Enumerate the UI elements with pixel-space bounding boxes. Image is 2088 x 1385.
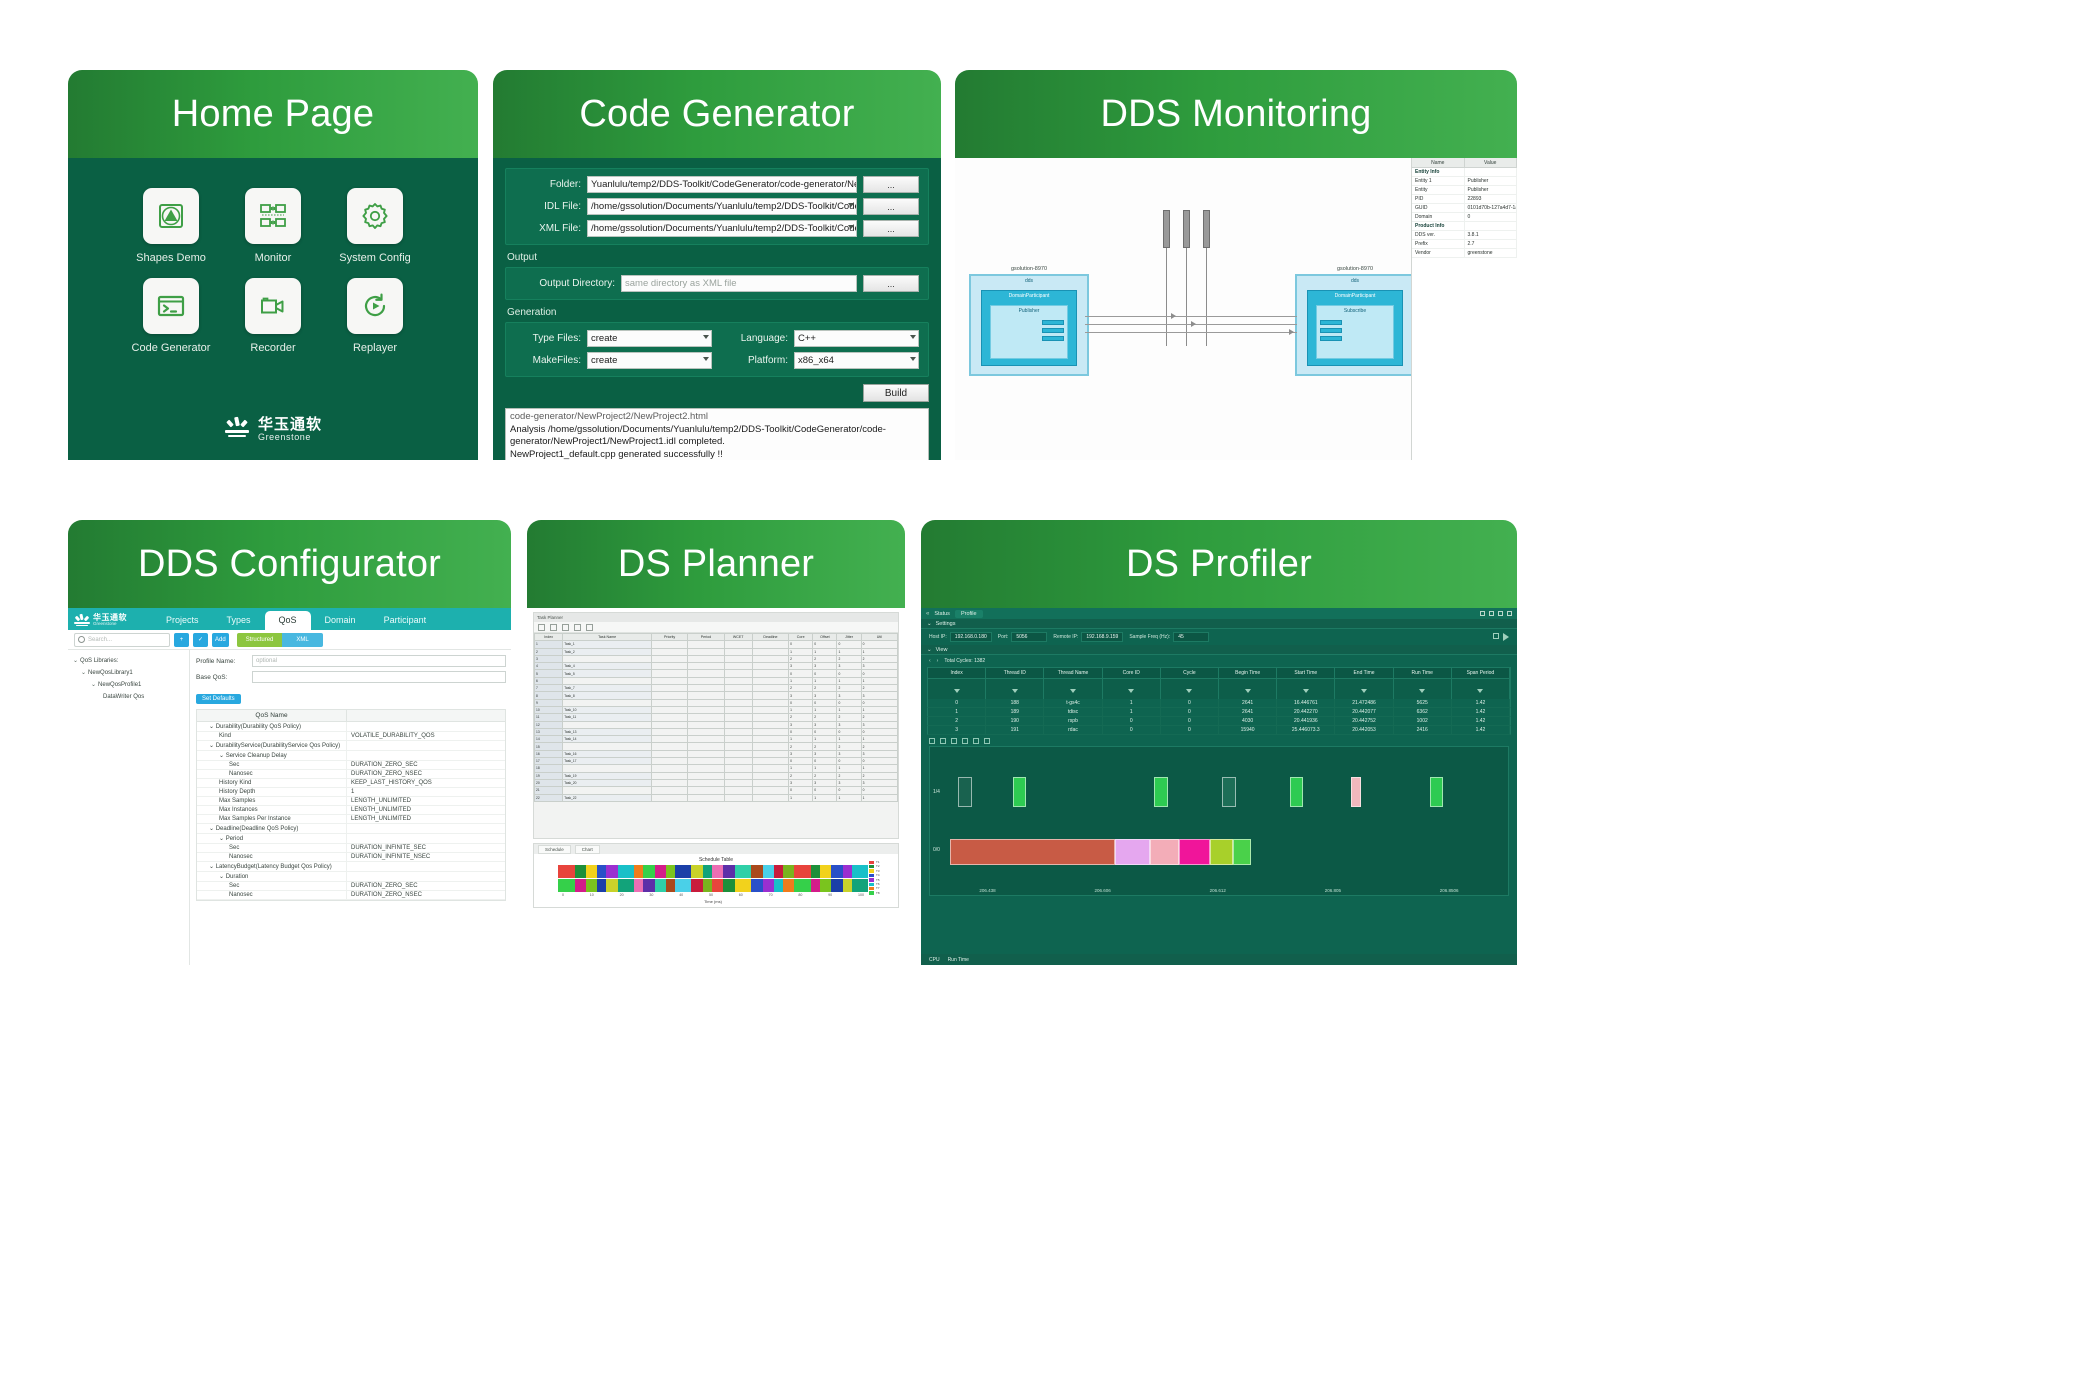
tree-node[interactable]: ⌄NewQosLibrary1	[71, 667, 186, 679]
port[interactable]	[1042, 328, 1064, 333]
table-row[interactable]: KindVOLATILE_DURABILITY_QOS	[197, 732, 505, 741]
add-icon[interactable]	[929, 738, 935, 744]
table-cell[interactable]: 2	[837, 685, 861, 692]
table-cell[interactable]	[724, 648, 752, 655]
table-cell[interactable]	[752, 765, 788, 772]
language-select[interactable]: C++	[794, 330, 919, 347]
table-cell[interactable]	[752, 750, 788, 757]
gantt-segment[interactable]	[655, 865, 666, 878]
profile-name-input[interactable]: optional	[252, 655, 506, 667]
gantt-segment[interactable]	[783, 879, 794, 892]
table-cell[interactable]	[688, 706, 724, 713]
gantt-segment[interactable]	[606, 879, 617, 892]
table-cell[interactable]	[688, 779, 724, 786]
column-header[interactable]: Core	[789, 634, 813, 641]
column-header[interactable]: Deadline	[752, 634, 788, 641]
table-cell[interactable]: 20	[535, 779, 563, 786]
table-cell[interactable]: 3	[813, 750, 837, 757]
table-cell[interactable]: 0	[861, 670, 897, 677]
xml-browse-button[interactable]: ...	[863, 220, 919, 237]
table-cell[interactable]: Task_2	[563, 648, 652, 655]
column-header[interactable]: Task Name	[563, 634, 652, 641]
property-row[interactable]: Domain0	[1412, 213, 1517, 222]
gantt-segment[interactable]	[586, 865, 597, 878]
table-cell[interactable]: 12	[535, 721, 563, 728]
segment-structured[interactable]: Structured	[237, 633, 283, 647]
table-cell[interactable]	[651, 706, 687, 713]
table-cell[interactable]: 1	[837, 706, 861, 713]
table-cell[interactable]	[563, 677, 652, 684]
table-row[interactable]: 1Task_10000	[535, 641, 898, 648]
table-cell[interactable]: 4	[535, 663, 563, 670]
table-cell[interactable]: Task_14	[563, 736, 652, 743]
table-row[interactable]: 7Task_72222	[535, 685, 898, 692]
table-cell[interactable]	[752, 728, 788, 735]
table-cell[interactable]	[724, 794, 752, 801]
tab-domain[interactable]: Domain	[311, 615, 370, 630]
tab-participant[interactable]: Participant	[370, 615, 441, 630]
table-cell[interactable]	[752, 714, 788, 721]
table-cell[interactable]	[688, 648, 724, 655]
table-cell[interactable]: 0	[789, 670, 813, 677]
column-header[interactable]: Index	[535, 634, 563, 641]
table-row[interactable]: 5Task_50000	[535, 670, 898, 677]
edit-icon[interactable]	[1493, 633, 1499, 639]
table-row[interactable]: 123333	[535, 721, 898, 728]
table-cell[interactable]: 0	[837, 641, 861, 648]
table-cell[interactable]	[752, 736, 788, 743]
gantt-segment[interactable]	[794, 865, 811, 878]
column-filter[interactable]	[1394, 679, 1452, 699]
table-cell[interactable]: 0	[789, 641, 813, 648]
table-cell[interactable]: 8	[535, 692, 563, 699]
timeline-block[interactable]	[958, 777, 972, 807]
table-row[interactable]: 152222	[535, 743, 898, 750]
table-cell[interactable]: 0	[789, 699, 813, 706]
table-cell[interactable]: 1	[813, 677, 837, 684]
property-row[interactable]: Entity Info	[1412, 168, 1517, 177]
gantt-segment[interactable]	[703, 865, 712, 878]
port[interactable]	[1320, 328, 1342, 333]
table-cell[interactable]: 22	[535, 794, 563, 801]
gantt-segment[interactable]	[783, 865, 794, 878]
port[interactable]	[1042, 336, 1064, 341]
table-cell[interactable]	[651, 685, 687, 692]
table-cell[interactable]	[752, 699, 788, 706]
table-cell[interactable]: 0	[789, 787, 813, 794]
column-header[interactable]: Core ID	[1103, 668, 1161, 678]
table-cell[interactable]	[651, 728, 687, 735]
menu-icon[interactable]: «	[926, 611, 929, 617]
table-cell[interactable]	[724, 787, 752, 794]
table-cell[interactable]	[563, 743, 652, 750]
table-cell[interactable]: 3	[837, 721, 861, 728]
qos-library-tree[interactable]: ⌄QoS Libraries: ⌄NewQosLibrary1 ⌄NewQosP…	[68, 650, 190, 965]
table-cell[interactable]	[651, 787, 687, 794]
gantt-segment[interactable]	[735, 865, 752, 878]
table-cell[interactable]	[688, 736, 724, 743]
gantt-segment[interactable]	[643, 879, 654, 892]
table-cell[interactable]	[651, 692, 687, 699]
table-row[interactable]: 0188t-gs4c10264116.44676121.47248656251.…	[927, 699, 1511, 708]
table-row[interactable]: NanosecDURATION_ZERO_NSEC	[197, 891, 505, 900]
table-cell[interactable]: 2	[789, 685, 813, 692]
table-cell[interactable]: 3	[789, 692, 813, 699]
table-cell[interactable]	[688, 714, 724, 721]
table-row[interactable]: 4Task_43333	[535, 663, 898, 670]
table-row[interactable]: SecDURATION_ZERO_SEC	[197, 882, 505, 891]
maximize-icon[interactable]	[1498, 611, 1503, 616]
gantt-segment[interactable]	[723, 865, 734, 878]
profiler-table-filter-row[interactable]	[927, 679, 1511, 699]
table-cell[interactable]	[688, 670, 724, 677]
folder-browse-button[interactable]: ...	[863, 176, 919, 193]
table-cell[interactable]: 0	[813, 641, 837, 648]
table-cell[interactable]	[724, 736, 752, 743]
table-cell[interactable]	[724, 750, 752, 757]
table-cell[interactable]	[752, 787, 788, 794]
table-cell[interactable]: Task_13	[563, 728, 652, 735]
next-icon[interactable]: ›	[937, 658, 939, 664]
column-header[interactable]: Start Time	[1277, 668, 1335, 678]
table-cell[interactable]: 3	[789, 750, 813, 757]
profiler-timeline-chart[interactable]: 1/4 0/0 206.438206.606206.612206.805206.…	[929, 746, 1509, 896]
chevron-down-icon[interactable]	[703, 335, 709, 339]
table-cell[interactable]: 1	[861, 648, 897, 655]
table-cell[interactable]: 3	[837, 663, 861, 670]
gantt-segment[interactable]	[675, 879, 692, 892]
table-cell[interactable]: 1	[789, 794, 813, 801]
makefiles-select[interactable]: create	[587, 352, 712, 369]
table-cell[interactable]	[752, 794, 788, 801]
column-header[interactable]: End Time	[1335, 668, 1393, 678]
column-header[interactable]: Thread Name	[1044, 668, 1102, 678]
table-cell[interactable]	[688, 721, 724, 728]
build-button[interactable]: Build	[863, 384, 929, 402]
table-cell[interactable]: 2	[837, 714, 861, 721]
table-cell[interactable]	[688, 750, 724, 757]
port-field[interactable]: Port:5056	[998, 632, 1048, 642]
table-row[interactable]: 1189tdisc10264120.44227020.44207763621.4…	[927, 708, 1511, 717]
column-header[interactable]: Period	[688, 634, 724, 641]
timeline-block[interactable]	[950, 839, 1115, 865]
table-cell[interactable]: 0	[837, 699, 861, 706]
chevron-down-icon[interactable]	[848, 203, 854, 207]
pan-icon[interactable]	[973, 738, 979, 744]
table-cell[interactable]: 3	[789, 721, 813, 728]
table-cell[interactable]: 3	[861, 721, 897, 728]
table-cell[interactable]: 3	[861, 663, 897, 670]
open-icon[interactable]	[538, 624, 545, 631]
topic-bar[interactable]	[1163, 210, 1170, 248]
gantt-segment[interactable]	[606, 865, 617, 878]
platform-select[interactable]: x86_x64	[794, 352, 919, 369]
table-cell[interactable]: 1	[861, 736, 897, 743]
table-row[interactable]: 32222	[535, 655, 898, 662]
table-row[interactable]: 3191rdac001594025.446073.320.44205324161…	[927, 726, 1511, 735]
host-ip-field[interactable]: Host IP:192.168.0.180	[929, 632, 992, 642]
monitoring-canvas[interactable]: gsolution-8970 dds DomainParticipant Pub…	[955, 158, 1517, 460]
table-cell[interactable]: 7	[535, 685, 563, 692]
tab-projects[interactable]: Projects	[152, 615, 213, 630]
table-cell[interactable]: Task_20	[563, 779, 652, 786]
table-cell[interactable]: 0	[813, 758, 837, 765]
table-cell[interactable]: 0	[861, 699, 897, 706]
table-cell[interactable]	[688, 692, 724, 699]
table-row[interactable]: ⌄ DurabilityService(DurabilityService Qo…	[197, 741, 505, 751]
table-row[interactable]: Max InstancesLENGTH_UNLIMITED	[197, 806, 505, 815]
gantt-segment[interactable]	[703, 879, 712, 892]
base-qos-input[interactable]	[252, 671, 506, 683]
tile-code-generator[interactable]: Code Generator	[120, 278, 222, 354]
table-row[interactable]: 61111	[535, 677, 898, 684]
table-cell[interactable]: 19	[535, 772, 563, 779]
table-cell[interactable]: 2	[813, 714, 837, 721]
node-left-publisher[interactable]: Publisher	[990, 305, 1068, 359]
table-cell[interactable]	[688, 794, 724, 801]
table-row[interactable]: ⌄ LatencyBudget(Latency Budget Qos Polic…	[197, 862, 505, 872]
table-cell[interactable]: 1	[813, 765, 837, 772]
planner-task-table[interactable]: IndexTask NamePriorityPeriodWCETDeadline…	[534, 633, 898, 802]
table-cell[interactable]	[563, 699, 652, 706]
table-cell[interactable]	[651, 779, 687, 786]
table-cell[interactable]	[688, 685, 724, 692]
table-row[interactable]: ⌄ Deadline(Deadline QoS Policy)	[197, 824, 505, 834]
table-cell[interactable]	[651, 743, 687, 750]
table-row[interactable]: 16Task_163333	[535, 750, 898, 757]
table-row[interactable]: 2190rspb00403020.44193620.44275210021.42	[927, 717, 1511, 726]
remote-ip-field[interactable]: Remote IP:192.168.9.159	[1053, 632, 1123, 642]
gantt-segment[interactable]	[666, 879, 675, 892]
column-header[interactable]: Begin Time	[1219, 668, 1277, 678]
column-filter[interactable]	[928, 679, 986, 699]
play-icon[interactable]	[1503, 633, 1509, 641]
timeline-block[interactable]	[1150, 839, 1179, 865]
gantt-segment[interactable]	[843, 865, 852, 878]
table-cell[interactable]: 1	[813, 736, 837, 743]
gantt-segment[interactable]	[852, 865, 869, 878]
topic-bar[interactable]	[1183, 210, 1190, 248]
table-cell[interactable]: 1	[861, 794, 897, 801]
table-cell[interactable]: 1	[861, 765, 897, 772]
table-cell[interactable]: Task_5	[563, 670, 652, 677]
add-button[interactable]: Add	[212, 633, 229, 647]
table-cell[interactable]: 6	[535, 677, 563, 684]
node-left-outer[interactable]: dds DomainParticipant Publisher	[969, 274, 1089, 376]
column-header[interactable]: Offset	[813, 634, 837, 641]
table-cell[interactable]: 2	[789, 772, 813, 779]
table-cell[interactable]: 2	[813, 685, 837, 692]
gantt-segment[interactable]	[811, 865, 820, 878]
table-cell[interactable]	[752, 772, 788, 779]
table-cell[interactable]	[651, 699, 687, 706]
port[interactable]	[1042, 320, 1064, 325]
table-cell[interactable]	[752, 655, 788, 662]
table-cell[interactable]	[724, 728, 752, 735]
tile-replayer[interactable]: Replayer	[324, 278, 426, 354]
column-filter[interactable]	[1277, 679, 1335, 699]
table-cell[interactable]	[651, 648, 687, 655]
timeline-block[interactable]	[1222, 777, 1236, 807]
column-header[interactable]: Index	[928, 668, 986, 678]
table-cell[interactable]	[651, 655, 687, 662]
port[interactable]	[1320, 320, 1342, 325]
timeline-block[interactable]	[1233, 839, 1250, 865]
property-row[interactable]: Product Info	[1412, 222, 1517, 231]
column-filter[interactable]	[1161, 679, 1219, 699]
table-cell[interactable]: 1	[813, 706, 837, 713]
gantt-segment[interactable]	[723, 879, 734, 892]
gantt-segment[interactable]	[735, 879, 752, 892]
table-cell[interactable]: 2	[837, 772, 861, 779]
table-cell[interactable]: 2	[837, 743, 861, 750]
table-cell[interactable]	[651, 772, 687, 779]
gantt-segment[interactable]	[852, 879, 869, 892]
type-files-select[interactable]: create	[587, 330, 712, 347]
gantt-segment[interactable]	[558, 865, 575, 878]
table-cell[interactable]	[651, 765, 687, 772]
table-cell[interactable]	[752, 758, 788, 765]
column-filter[interactable]	[1219, 679, 1277, 699]
table-cell[interactable]: 3	[813, 692, 837, 699]
table-cell[interactable]: 0	[837, 728, 861, 735]
table-cell[interactable]: 2	[813, 655, 837, 662]
table-cell[interactable]	[724, 779, 752, 786]
table-row[interactable]: 17Task_170000	[535, 758, 898, 765]
gantt-segment[interactable]	[643, 865, 654, 878]
codegen-console[interactable]: code-generator/NewProject2/NewProject2.h…	[505, 408, 929, 460]
table-cell[interactable]	[752, 706, 788, 713]
save-icon[interactable]	[550, 624, 557, 631]
table-row[interactable]: 2Task_21111	[535, 648, 898, 655]
table-cell[interactable]: Task_17	[563, 758, 652, 765]
table-cell[interactable]: 3	[789, 663, 813, 670]
timeline-block[interactable]	[1210, 839, 1233, 865]
table-cell[interactable]	[724, 670, 752, 677]
table-cell[interactable]: 10	[535, 706, 563, 713]
tab-chart[interactable]: Chart	[575, 845, 600, 854]
column-filter[interactable]	[1044, 679, 1102, 699]
table-cell[interactable]: 16	[535, 750, 563, 757]
table-cell[interactable]: 2	[789, 743, 813, 750]
table-cell[interactable]: 2	[861, 655, 897, 662]
gantt-segment[interactable]	[751, 879, 762, 892]
table-cell[interactable]	[724, 743, 752, 750]
node-right-participant[interactable]: DomainParticipant Subscribe	[1307, 290, 1403, 366]
gantt-segment[interactable]	[763, 879, 774, 892]
table-cell[interactable]	[724, 685, 752, 692]
table-cell[interactable]	[724, 677, 752, 684]
search-input[interactable]: Search...	[74, 633, 170, 647]
tab-qos[interactable]: QoS	[265, 611, 311, 630]
table-cell[interactable]: 2	[861, 685, 897, 692]
idl-browse-button[interactable]: ...	[863, 198, 919, 215]
timeline-block[interactable]	[1013, 777, 1026, 807]
table-cell[interactable]: 1	[789, 648, 813, 655]
chevron-down-icon[interactable]	[848, 225, 854, 229]
timeline-block[interactable]	[1351, 777, 1361, 807]
table-cell[interactable]: 1	[813, 794, 837, 801]
column-filter[interactable]	[1103, 679, 1161, 699]
tree-node[interactable]: ⌄NewQosProfile1	[71, 679, 186, 691]
property-row[interactable]: PID22893	[1412, 195, 1517, 204]
table-row[interactable]: 10Task_101111	[535, 706, 898, 713]
idl-file-input[interactable]: /home/gssolution/Documents/Yuanlulu/temp…	[587, 198, 857, 215]
table-cell[interactable]: 21	[535, 787, 563, 794]
table-row[interactable]: ⌄ Duration	[197, 872, 505, 882]
table-cell[interactable]	[688, 787, 724, 794]
zoom-out-icon[interactable]	[962, 738, 968, 744]
table-row[interactable]: SecDURATION_INFINITE_SEC	[197, 844, 505, 853]
table-cell[interactable]: 1	[813, 648, 837, 655]
table-row[interactable]: NanosecDURATION_ZERO_NSEC	[197, 770, 505, 779]
table-row[interactable]: 90000	[535, 699, 898, 706]
table-cell[interactable]: 1	[789, 677, 813, 684]
table-cell[interactable]: Task_16	[563, 750, 652, 757]
timeline-block[interactable]	[1290, 777, 1303, 807]
table-cell[interactable]: 11	[535, 714, 563, 721]
table-cell[interactable]	[752, 721, 788, 728]
settings-section-header[interactable]: ⌄ Settings	[921, 619, 1517, 629]
table-cell[interactable]	[688, 641, 724, 648]
table-cell[interactable]: 3	[861, 750, 897, 757]
chevron-down-icon[interactable]: ⌄	[73, 655, 78, 667]
table-cell[interactable]	[752, 641, 788, 648]
tab-schedule[interactable]: Schedule	[538, 845, 571, 854]
table-cell[interactable]	[724, 721, 752, 728]
table-cell[interactable]: Task_8	[563, 692, 652, 699]
gantt-segment[interactable]	[774, 879, 783, 892]
column-header[interactable]: Util	[861, 634, 897, 641]
gantt-segment[interactable]	[618, 865, 635, 878]
table-row[interactable]: 8Task_83333	[535, 692, 898, 699]
chart-icon[interactable]	[586, 624, 593, 631]
chevron-down-icon[interactable]	[910, 357, 916, 361]
remove-icon[interactable]	[940, 738, 946, 744]
table-cell[interactable]	[688, 663, 724, 670]
table-cell[interactable]: 1	[861, 706, 897, 713]
table-cell[interactable]: 3	[861, 692, 897, 699]
chevron-down-icon[interactable]: ⌄	[91, 679, 96, 691]
gantt-segment[interactable]	[820, 865, 831, 878]
gantt-segment[interactable]	[666, 865, 675, 878]
node-left-participant[interactable]: DomainParticipant Publisher	[981, 290, 1077, 366]
table-cell[interactable]	[752, 685, 788, 692]
gantt-row[interactable]	[558, 865, 868, 878]
table-cell[interactable]	[563, 655, 652, 662]
output-browse-button[interactable]: ...	[863, 275, 919, 292]
table-cell[interactable]	[752, 692, 788, 699]
table-cell[interactable]: 2	[789, 655, 813, 662]
table-cell[interactable]: 2	[837, 655, 861, 662]
table-cell[interactable]	[688, 699, 724, 706]
gantt-segment[interactable]	[675, 865, 692, 878]
table-cell[interactable]	[688, 743, 724, 750]
table-row[interactable]: 19Task_192222	[535, 772, 898, 779]
table-cell[interactable]	[651, 677, 687, 684]
table-cell[interactable]: 1	[837, 648, 861, 655]
tree-node[interactable]: ⌄QoS Libraries:	[71, 655, 186, 667]
gantt-segment[interactable]	[831, 879, 842, 892]
chevron-down-icon[interactable]: ⌄	[81, 667, 86, 679]
table-cell[interactable]	[724, 714, 752, 721]
timeline-block[interactable]	[1179, 839, 1211, 865]
column-header[interactable]: Jitter	[837, 634, 861, 641]
table-cell[interactable]	[724, 772, 752, 779]
column-filter[interactable]	[986, 679, 1044, 699]
table-cell[interactable]: Task_10	[563, 706, 652, 713]
set-defaults-button[interactable]: Set Defaults	[196, 694, 241, 704]
